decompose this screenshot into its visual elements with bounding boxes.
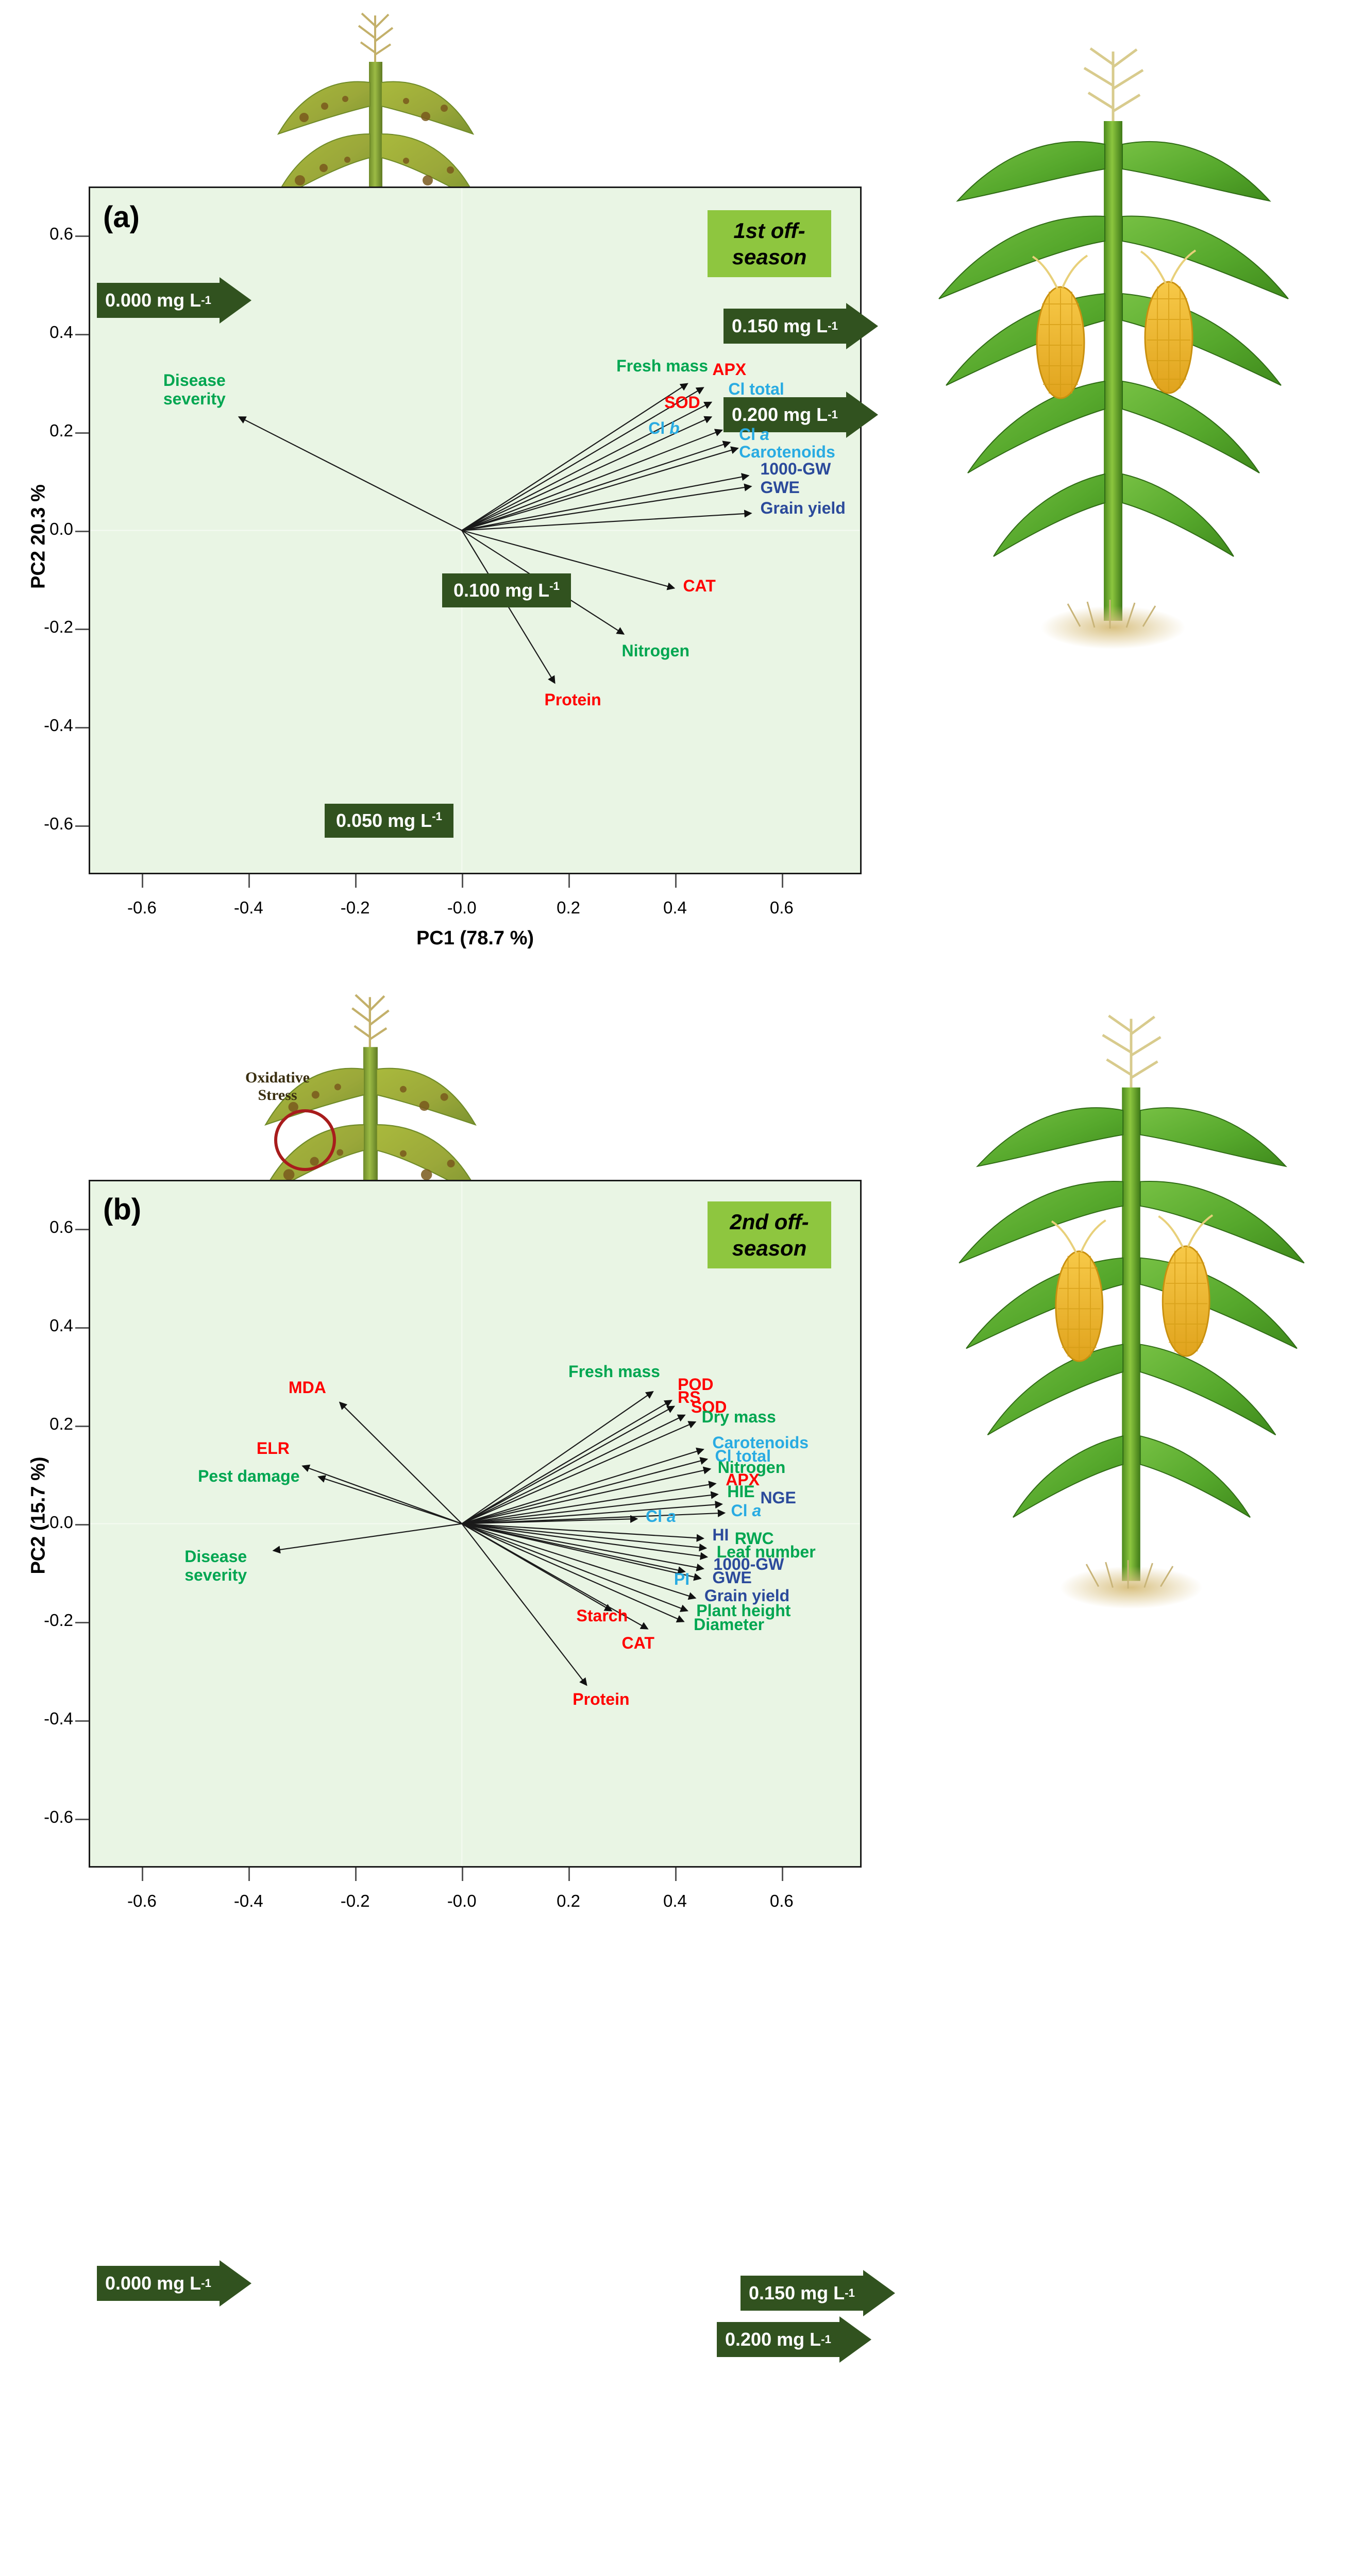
dose-arrow-0.000-b: 0.000 mg L-1: [97, 2260, 251, 2307]
variable-label: Pest damage: [198, 1467, 299, 1486]
dose-arrow-0.000-a-label: 0.000 mg L-1: [97, 283, 220, 318]
dose-arrow-0.150-b-head: [863, 2270, 895, 2316]
dose-arrow-0.200-b-label: 0.200 mg L-1: [717, 2322, 839, 2357]
panel-b-y-tick-mark: [75, 1720, 89, 1722]
panel-b-second-offseason: Oxidative Stress: [0, 979, 1346, 1964]
loading-vector: [462, 1484, 715, 1524]
panel-a-y-tick-mark: [75, 629, 89, 630]
panel-b-x-tick-mark: [248, 1868, 250, 1881]
variable-label: Carotenoids: [739, 443, 835, 462]
variable-label: Protein: [573, 1690, 629, 1709]
panel-b-y-tick-label: 0.6: [16, 1217, 73, 1237]
panel-a-y-tick-mark: [75, 334, 89, 335]
panel-a-x-tick-mark: [355, 874, 357, 888]
dose-arrow-0.000-b-label: 0.000 mg L-1: [97, 2266, 220, 2301]
oxidative-stress-line1: Oxidative: [245, 1069, 310, 1087]
variable-label: PI: [674, 1570, 689, 1589]
dose-arrow-0.000-a-head: [220, 277, 251, 324]
panel-b-x-tick-label: -0.2: [319, 1891, 391, 1911]
panel-b-x-tick-label: 0.2: [532, 1891, 604, 1911]
variable-label: NGE: [760, 1489, 796, 1507]
loading-vector: [462, 1392, 653, 1523]
panel-a-x-tick-label: -0.0: [426, 898, 498, 918]
variable-label: APX: [712, 361, 746, 379]
panel-a-x-tick-label: 0.6: [746, 898, 818, 918]
panel-a-y-tick-label: 0.2: [16, 421, 73, 440]
panel-a-x-tick-label: 0.4: [639, 898, 711, 918]
variable-label: Diameter: [694, 1616, 764, 1634]
panel-b-x-tick-mark: [782, 1868, 783, 1881]
panel-a-x-tick-mark: [568, 874, 570, 888]
panel-a-x-tick-mark: [675, 874, 677, 888]
panel-a-x-tick-label: -0.2: [319, 898, 391, 918]
variable-label: SOD: [664, 394, 700, 412]
panel-b-y-tick-mark: [75, 1819, 89, 1820]
panel-b-x-tick-label: 0.6: [746, 1891, 818, 1911]
dose-arrow-0.200-b-head: [839, 2316, 871, 2363]
variable-label: MDA: [289, 1379, 326, 1397]
dose-arrow-0.150-a: 0.150 mg L-1: [724, 303, 878, 349]
dose-arrow-0.150-b-label: 0.150 mg L-1: [741, 2276, 863, 2311]
dose-arrow-0.200-b: 0.200 mg L-1: [717, 2316, 871, 2363]
panel-a-x-tick-mark: [782, 874, 783, 888]
panel-b-plot-area: [89, 1180, 862, 1868]
panel-a-x-tick-mark: [248, 874, 250, 888]
variable-label: GWE: [712, 1569, 751, 1587]
panel-b-y-tick-mark: [75, 1327, 89, 1329]
panel-a-x-tick-mark: [462, 874, 463, 888]
loading-vector: [318, 1477, 462, 1523]
panel-a-y-tick-label: 0.4: [16, 323, 73, 342]
panel-b-y-tick-label: 0.4: [16, 1316, 73, 1335]
variable-label: ELR: [257, 1439, 290, 1458]
variable-label: CAT: [621, 1634, 654, 1653]
dose-arrow-0.200-a-head: [846, 392, 878, 438]
panel-a-y-tick-mark: [75, 432, 89, 434]
panel-b-letter: (b): [103, 1192, 141, 1227]
panel-a-season-badge: 1st off-season: [708, 210, 831, 277]
variable-label: Cl a: [646, 1507, 676, 1526]
panel-a-y-tick-label: -0.4: [16, 716, 73, 735]
variable-label: CAT: [683, 577, 715, 596]
healthy-maize-plant-illustration-b: [928, 979, 1335, 1664]
variable-label: Starch: [577, 1607, 628, 1625]
panel-b-x-tick-label: 0.4: [639, 1891, 711, 1911]
variable-label: Diseaseseverity: [184, 1548, 247, 1585]
healthy-maize-plant-illustration-a: [907, 36, 1319, 680]
oxidative-stress-line2: Stress: [245, 1087, 310, 1104]
panel-a-y-tick-label: 0.6: [16, 224, 73, 244]
variable-label: Cl a: [731, 1502, 762, 1520]
panel-b-y-tick-mark: [75, 1622, 89, 1623]
panel-b-y-tick-label: -0.4: [16, 1709, 73, 1728]
panel-b-loading-vectors: [90, 1181, 860, 1866]
loading-vector: [462, 1406, 674, 1524]
loading-vector: [340, 1402, 462, 1523]
panel-b-y-tick-mark: [75, 1426, 89, 1427]
panel-a-y-tick-label: 0.0: [16, 519, 73, 539]
panel-b-y-tick-label: -0.2: [16, 1611, 73, 1630]
panel-b-x-tick-label: -0.4: [212, 1891, 284, 1911]
panel-b-y-tick-mark: [75, 1229, 89, 1230]
panel-b-x-tick-mark: [568, 1868, 570, 1881]
panel-a-x-tick-label: -0.4: [212, 898, 284, 918]
panel-b-x-tick-mark: [355, 1868, 357, 1881]
loading-vector: [462, 1495, 717, 1524]
panel-a-first-offseason: PC2 20.3 % (a) 1st off-season 0.000 mg L…: [0, 0, 1346, 979]
variable-label: Grain yield: [760, 499, 845, 518]
panel-b-x-tick-mark: [142, 1868, 143, 1881]
panel-b-y-tick-label: -0.6: [16, 1807, 73, 1827]
variable-label: Nitrogen: [621, 642, 689, 660]
variable-label: 1000-GW: [760, 460, 831, 479]
panel-a-x-tick-label: -0.6: [106, 898, 178, 918]
panel-b-y-tick-mark: [75, 1524, 89, 1526]
panel-b-y-tick-label: 0.0: [16, 1513, 73, 1532]
panel-a-y-tick-mark: [75, 825, 89, 827]
loading-vector: [462, 1400, 671, 1523]
panel-b-season-badge-text: 2nd off-season: [730, 1210, 809, 1260]
dose-arrow-0.000-a: 0.000 mg L-1: [97, 277, 251, 324]
panel-a-y-tick-label: -0.6: [16, 814, 73, 834]
panel-b-x-tick-label: -0.6: [106, 1891, 178, 1911]
dose-arrow-0.150-b: 0.150 mg L-1: [741, 2270, 895, 2316]
dose-tag-0.100-a: 0.100 mg L-1: [442, 573, 571, 607]
panel-a-letter: (a): [103, 200, 140, 234]
variable-label: HI: [712, 1526, 729, 1545]
loading-vector: [302, 1466, 462, 1523]
dose-arrow-0.150-a-head: [846, 303, 878, 349]
variable-label: Protein: [544, 691, 601, 709]
variable-label: Cl a: [739, 426, 769, 444]
panel-a-y-tick-mark: [75, 531, 89, 532]
loading-vector: [462, 448, 738, 530]
oxidative-stress-circle-highlight: [274, 1109, 336, 1171]
loading-vector: [274, 1524, 462, 1551]
loading-vector: [239, 417, 462, 530]
panel-b-y-tick-label: 0.2: [16, 1414, 73, 1434]
variable-label: Diseaseseverity: [163, 371, 226, 409]
variable-label: Fresh mass: [568, 1363, 660, 1381]
panel-a-season-badge-text: 1st off-season: [732, 218, 807, 269]
dose-tag-0.050-a: 0.050 mg L-1: [325, 804, 453, 838]
variable-label: Dry mass: [702, 1408, 776, 1427]
panel-a-y-tick-label: -0.2: [16, 617, 73, 637]
variable-label: Cl b: [648, 419, 679, 438]
variable-label: Cl total: [728, 380, 784, 399]
variable-label: Fresh mass: [616, 357, 708, 376]
panel-a-y-tick-mark: [75, 727, 89, 728]
panel-b-season-badge: 2nd off-season: [708, 1201, 831, 1268]
variable-label: HIE: [727, 1483, 754, 1501]
panel-a-x-tick-mark: [142, 874, 143, 888]
dose-arrow-0.000-b-head: [220, 2260, 251, 2307]
panel-b-x-tick-mark: [462, 1868, 463, 1881]
panel-a-y-tick-mark: [75, 235, 89, 237]
panel-a-x-tick-label: 0.2: [532, 898, 604, 918]
variable-label: GWE: [760, 479, 799, 497]
oxidative-stress-annotation: Oxidative Stress: [245, 1069, 310, 1104]
panel-b-x-tick-mark: [675, 1868, 677, 1881]
panel-b-x-tick-label: -0.0: [426, 1891, 498, 1911]
panel-a-x-axis-title: PC1 (78.7 %): [89, 927, 862, 950]
dose-arrow-0.150-a-label: 0.150 mg L-1: [724, 309, 846, 344]
